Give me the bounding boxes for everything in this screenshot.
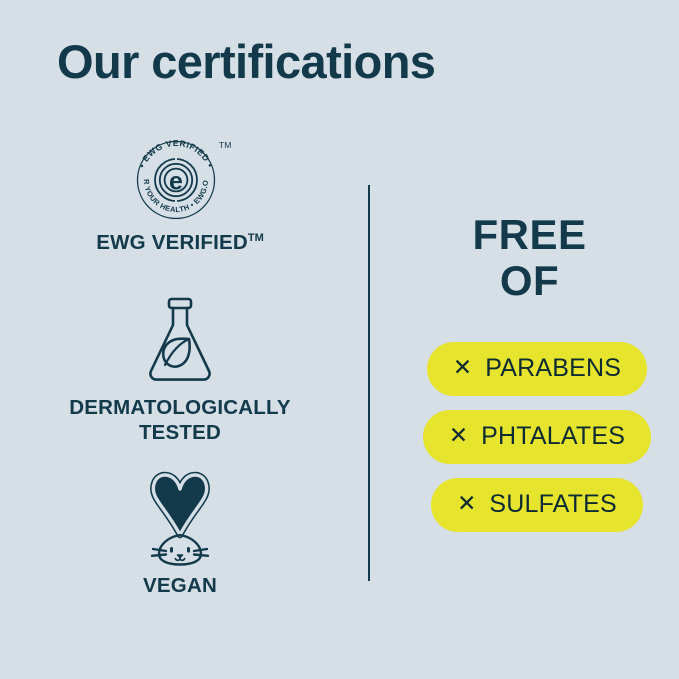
free-of-pill-label: PHTALATES <box>481 422 625 451</box>
x-mark-icon: ✕ <box>449 424 468 447</box>
svg-text:e: e <box>169 168 183 196</box>
certification-label-ewg: EWG VERIFIEDTM <box>0 230 360 255</box>
free-of-heading: FREE OF <box>422 212 637 304</box>
certification-label-derm-line2: TESTED <box>0 420 360 445</box>
certification-label-derm-line1: DERMATOLOGICALLY <box>0 395 360 420</box>
free-of-pill-label: SULFATES <box>489 490 617 519</box>
x-mark-icon: ✕ <box>453 356 472 379</box>
free-of-column: FREE OF ✕ PARABENS ✕ PHTALATES ✕ SULFATE… <box>395 212 679 532</box>
free-of-pill-phtalates: ✕ PHTALATES <box>423 410 651 464</box>
certification-label-vegan: VEGAN <box>0 573 360 598</box>
column-divider <box>368 185 370 581</box>
flask-with-leaf-icon <box>0 291 360 387</box>
certification-ewg-verified: • EWG VERIFIED • FOR YOUR HEALTH • EWG.O… <box>0 126 360 255</box>
certifications-column: • EWG VERIFIED • FOR YOUR HEALTH • EWG.O… <box>0 126 360 602</box>
bunny-heart-ears-icon <box>0 469 360 565</box>
certification-label-ewg-text: EWG VERIFIED <box>96 231 248 254</box>
svg-text:TM: TM <box>219 140 231 150</box>
certifications-panel: Our certifications • EWG VERIFIED • <box>0 0 679 679</box>
certification-label-dermatologically-tested: DERMATOLOGICALLY TESTED <box>0 395 360 445</box>
page-title: Our certifications <box>57 36 435 88</box>
x-mark-icon: ✕ <box>457 492 476 515</box>
certification-dermatologically-tested: DERMATOLOGICALLY TESTED <box>0 291 360 445</box>
free-of-pill-sulfates: ✕ SULFATES <box>431 478 643 532</box>
free-of-heading-line2: OF <box>422 258 637 304</box>
free-of-list: ✕ PARABENS ✕ PHTALATES ✕ SULFATES <box>395 342 679 532</box>
certification-vegan: VEGAN <box>0 469 360 598</box>
trademark-symbol: TM <box>248 232 264 244</box>
ewg-verified-seal-icon: • EWG VERIFIED • FOR YOUR HEALTH • EWG.O… <box>0 126 360 222</box>
free-of-pill-label: PARABENS <box>485 354 621 383</box>
free-of-pill-parabens: ✕ PARABENS <box>427 342 647 396</box>
free-of-heading-line1: FREE <box>422 212 637 258</box>
